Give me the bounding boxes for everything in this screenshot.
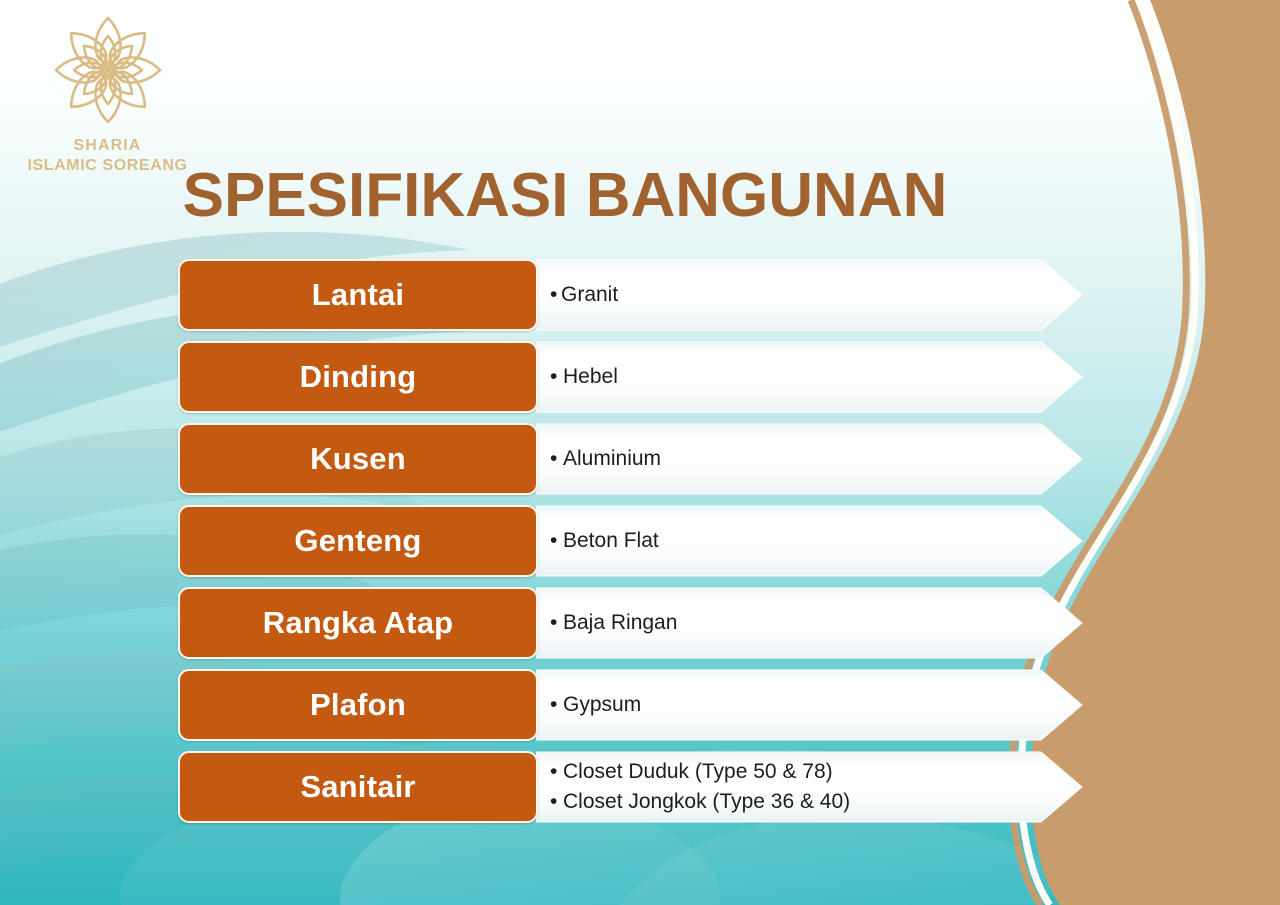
bullet-dot-icon: • — [550, 530, 563, 551]
bullet-dot-icon: • — [550, 612, 563, 633]
spec-row-label[interactable]: Kusen — [178, 423, 538, 495]
spec-row-label[interactable]: Plafon — [178, 669, 538, 741]
spec-row: Sanitair•Closet Duduk (Type 50 & 78)•Clo… — [178, 751, 1083, 823]
spec-row-label-text: Rangka Atap — [263, 605, 454, 641]
bullet-dot-icon: • — [550, 284, 561, 305]
spec-bullet-text: Beton Flat — [563, 526, 659, 556]
spec-row: Lantai•Granit — [178, 259, 1083, 331]
spec-bullet-item: •Granit — [550, 280, 1070, 310]
spec-row-label[interactable]: Sanitair — [178, 751, 538, 823]
spec-bullet-text: Granit — [561, 280, 618, 310]
spec-row-label-text: Lantai — [312, 277, 405, 313]
spec-bullet-item: •Beton Flat — [550, 526, 1070, 556]
spec-bullet-text: Aluminium — [563, 444, 661, 474]
spec-rows-list: Lantai•GranitDinding•HebelKusen•Aluminiu… — [178, 259, 1083, 823]
spec-row: Dinding•Hebel — [178, 341, 1083, 413]
spec-bullet-item: •Closet Duduk (Type 50 & 78) — [550, 757, 1070, 787]
spec-row-label-text: Dinding — [300, 359, 417, 395]
spec-bullet-text: Gypsum — [563, 690, 641, 720]
brand-name-line2: ISLAMIC SOREANG — [10, 156, 205, 176]
spec-row-label[interactable]: Dinding — [178, 341, 538, 413]
spec-row: Genteng•Beton Flat — [178, 505, 1083, 577]
brand-logo: SHARIA ISLAMIC SOREANG — [10, 12, 205, 176]
spec-row-items: •Closet Duduk (Type 50 & 78)•Closet Jong… — [550, 751, 1070, 823]
spec-bullet-item: •Gypsum — [550, 690, 1070, 720]
spec-bullet-text: Hebel — [563, 362, 618, 392]
spec-bullet-text: Baja Ringan — [563, 608, 677, 638]
spec-row-items: •Hebel — [550, 341, 1070, 413]
spec-row: Rangka Atap•Baja Ringan — [178, 587, 1083, 659]
spec-bullet-text: Closet Duduk (Type 50 & 78) — [563, 757, 833, 787]
spec-row-label[interactable]: Lantai — [178, 259, 538, 331]
spec-row-items: •Granit — [550, 259, 1070, 331]
spec-row-label-text: Plafon — [310, 687, 406, 723]
spec-bullet-item: •Closet Jongkok (Type 36 & 40) — [550, 787, 1070, 817]
spec-row-items: •Aluminium — [550, 423, 1070, 495]
slide-root: SHARIA ISLAMIC SOREANG SPESIFIKASI BANGU… — [0, 0, 1280, 905]
bullet-dot-icon: • — [550, 791, 563, 812]
spec-row-label-text: Genteng — [294, 523, 421, 559]
bullet-dot-icon: • — [550, 761, 563, 782]
spec-bullet-item: •Baja Ringan — [550, 608, 1070, 638]
spec-row: Plafon•Gypsum — [178, 669, 1083, 741]
spec-bullet-text: Closet Jongkok (Type 36 & 40) — [563, 787, 850, 817]
spec-row-label[interactable]: Rangka Atap — [178, 587, 538, 659]
spec-row-label[interactable]: Genteng — [178, 505, 538, 577]
spec-row-label-text: Sanitair — [300, 769, 415, 805]
bullet-dot-icon: • — [550, 448, 563, 469]
spec-row-items: •Beton Flat — [550, 505, 1070, 577]
brand-name-line1: SHARIA — [10, 136, 205, 156]
bullet-dot-icon: • — [550, 694, 563, 715]
spec-row-items: •Gypsum — [550, 669, 1070, 741]
spec-bullet-item: •Hebel — [550, 362, 1070, 392]
spec-bullet-item: •Aluminium — [550, 444, 1070, 474]
flower-mandala-icon — [38, 12, 178, 130]
spec-row-label-text: Kusen — [310, 441, 406, 477]
spec-row-items: •Baja Ringan — [550, 587, 1070, 659]
spec-row: Kusen•Aluminium — [178, 423, 1083, 495]
bullet-dot-icon: • — [550, 366, 563, 387]
